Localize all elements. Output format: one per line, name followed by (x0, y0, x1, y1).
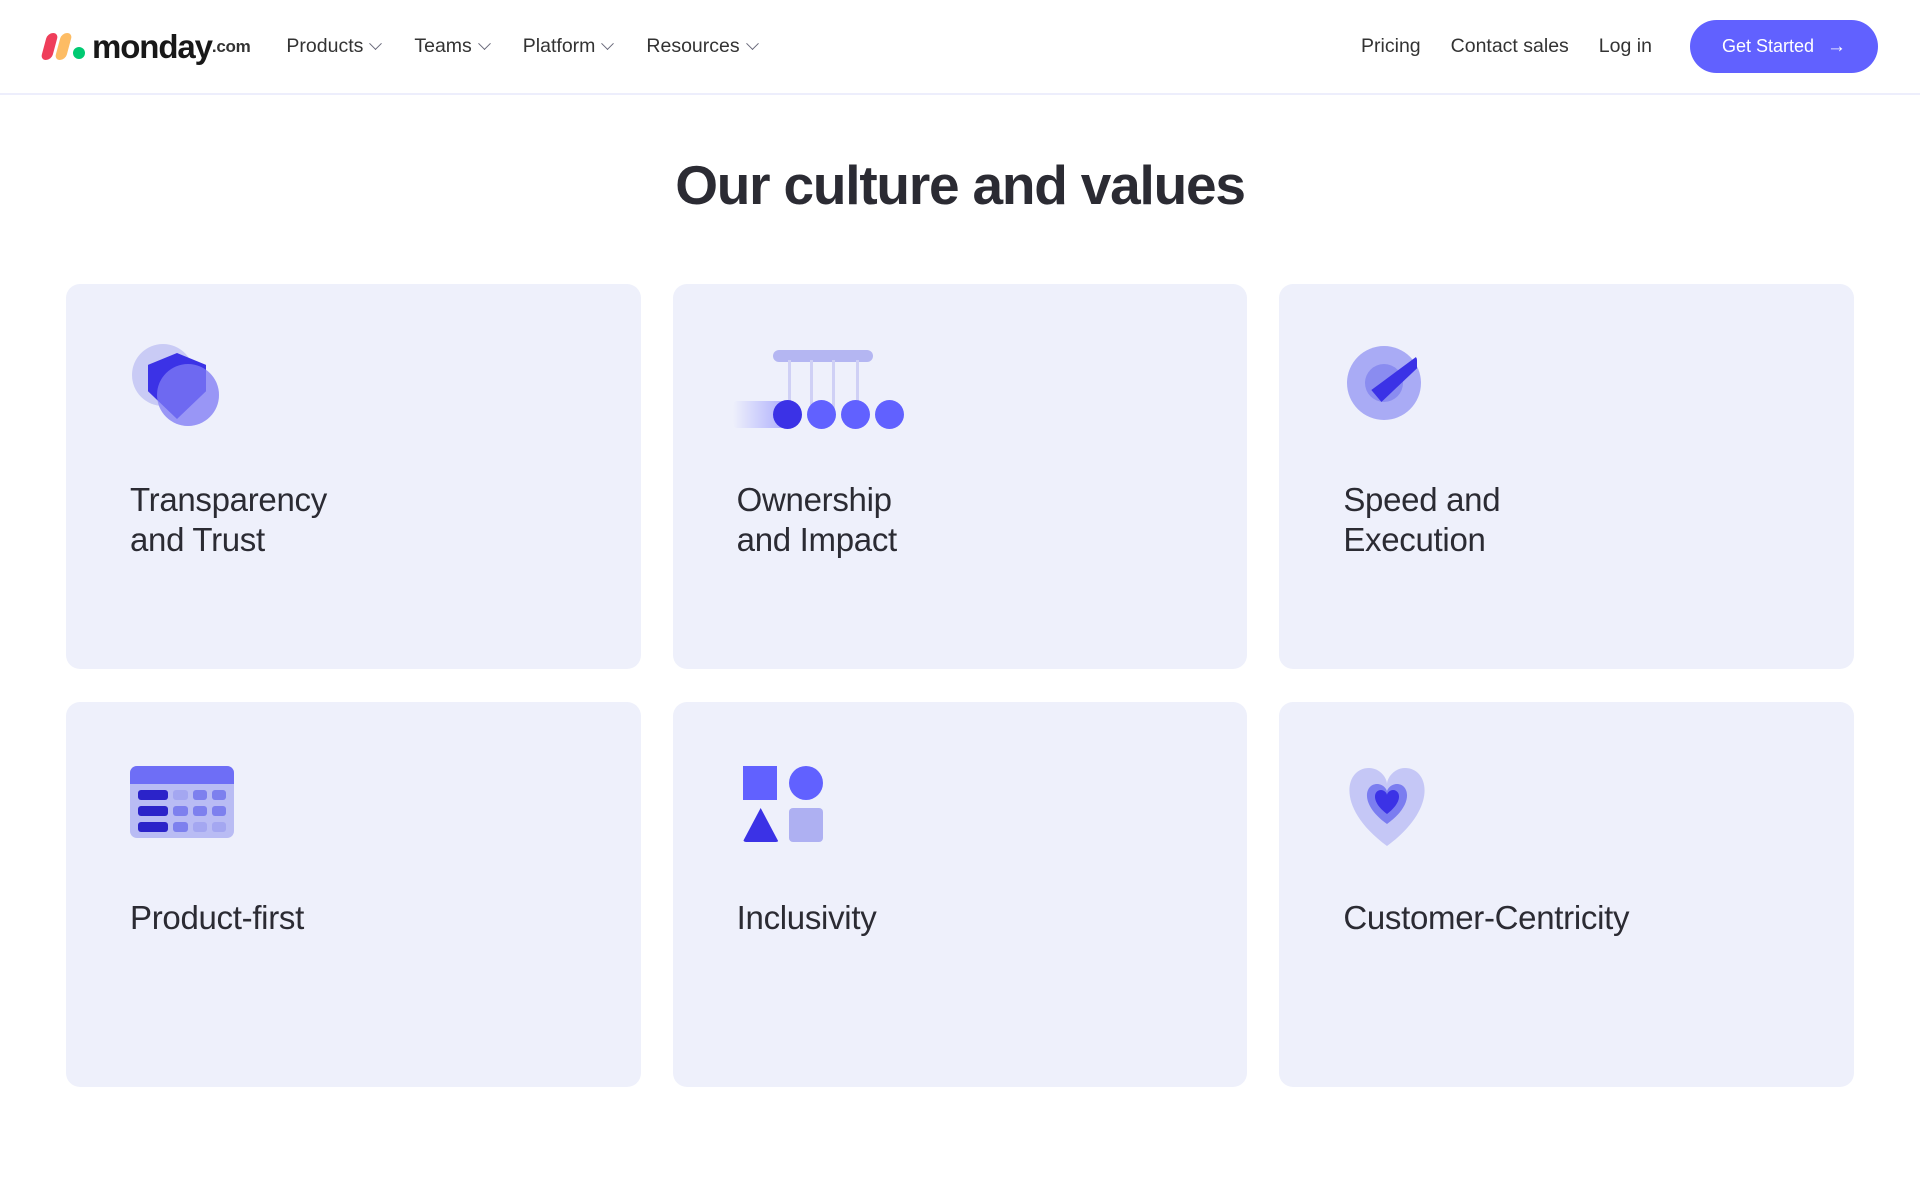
board-cell (173, 790, 187, 800)
nav-item-label: Platform (523, 35, 596, 58)
value-card-ownership-and-impact[interactable]: Ownership and Impact (673, 284, 1248, 669)
nav-link-contact-sales[interactable]: Contact sales (1451, 35, 1569, 58)
card-icon-wrapper (130, 760, 579, 852)
arrow-right-icon: → (1827, 37, 1846, 56)
card-title: Speed and Execution (1343, 480, 1792, 559)
chevron-down-icon (478, 37, 491, 50)
page-title: Our culture and values (0, 153, 1920, 217)
secondary-navigation: Pricing Contact sales Log in Get Started… (1361, 20, 1878, 73)
board-cell (212, 806, 226, 816)
heart-icon (1343, 760, 1443, 852)
speedometer-icon (1343, 342, 1443, 434)
board-cell (138, 822, 168, 832)
logo-wordmark: monday (92, 30, 212, 63)
chevron-down-icon (746, 37, 759, 50)
card-title: Transparency and Trust (130, 480, 579, 559)
logo-tld: .com (212, 37, 250, 57)
card-icon-wrapper (1343, 760, 1792, 852)
board-body (130, 766, 234, 838)
board-row (130, 822, 234, 832)
get-started-label: Get Started (1722, 36, 1814, 57)
nav-item-label: Resources (646, 35, 739, 58)
cradle-ball (807, 400, 836, 429)
nav-link-pricing[interactable]: Pricing (1361, 35, 1421, 58)
board-row (130, 790, 234, 800)
site-header: monday .com Products Teams Platform Reso… (0, 0, 1920, 95)
card-icon-wrapper (737, 342, 1186, 434)
value-card-inclusivity[interactable]: Inclusivity (673, 702, 1248, 1087)
nav-item-teams[interactable]: Teams (414, 35, 488, 58)
nav-item-label: Products (286, 35, 363, 58)
logo-dot-green (73, 47, 85, 59)
nav-link-log-in[interactable]: Log in (1599, 35, 1652, 58)
nav-item-platform[interactable]: Platform (523, 35, 613, 58)
cradle-ball (841, 400, 870, 429)
value-card-product-first[interactable]: Product-first (66, 702, 641, 1087)
value-card-customer-centricity[interactable]: Customer-Centricity (1279, 702, 1854, 1087)
shape-triangle (743, 808, 779, 842)
newtons-cradle-icon (737, 342, 882, 434)
shield-circle-overlay (157, 364, 219, 426)
value-card-transparency-and-trust[interactable]: Transparency and Trust (66, 284, 641, 669)
monday-logo-mark (44, 33, 85, 60)
nav-item-label: Teams (414, 35, 471, 58)
board-cell (193, 790, 207, 800)
chevron-down-icon (369, 37, 382, 50)
shapes-icon (737, 760, 837, 852)
card-title: Ownership and Impact (737, 480, 1186, 559)
board-cell (173, 822, 187, 832)
card-icon-wrapper (130, 342, 579, 434)
shape-circle (789, 766, 823, 800)
primary-navigation: Products Teams Platform Resources (286, 35, 756, 58)
nav-item-products[interactable]: Products (286, 35, 380, 58)
card-icon-wrapper (1343, 342, 1792, 434)
get-started-button[interactable]: Get Started → (1690, 20, 1878, 73)
monday-com-logo[interactable]: monday .com (44, 30, 250, 63)
board-cell (138, 806, 168, 816)
shield-icon (130, 342, 230, 434)
board-cell (212, 790, 226, 800)
nav-item-resources[interactable]: Resources (646, 35, 756, 58)
card-title: Inclusivity (737, 898, 1186, 938)
card-title: Customer-Centricity (1343, 898, 1792, 938)
shape-square (743, 766, 777, 800)
cradle-ball (875, 400, 904, 429)
value-card-speed-and-execution[interactable]: Speed and Execution (1279, 284, 1854, 669)
cradle-ball (773, 400, 802, 429)
board-cell (193, 822, 207, 832)
board-cell (173, 806, 187, 816)
board-icon (130, 760, 230, 852)
card-title: Product-first (130, 898, 579, 938)
board-cell (193, 806, 207, 816)
values-card-grid: Transparency and Trust Ownership and Imp… (0, 284, 1920, 1087)
card-icon-wrapper (737, 760, 1186, 852)
board-cell (138, 790, 168, 800)
chevron-down-icon (602, 37, 615, 50)
heart-svg (1343, 760, 1443, 852)
board-cell (212, 822, 226, 832)
board-row (130, 806, 234, 816)
shape-rounded-square (789, 808, 823, 842)
board-header-bar (130, 766, 234, 784)
